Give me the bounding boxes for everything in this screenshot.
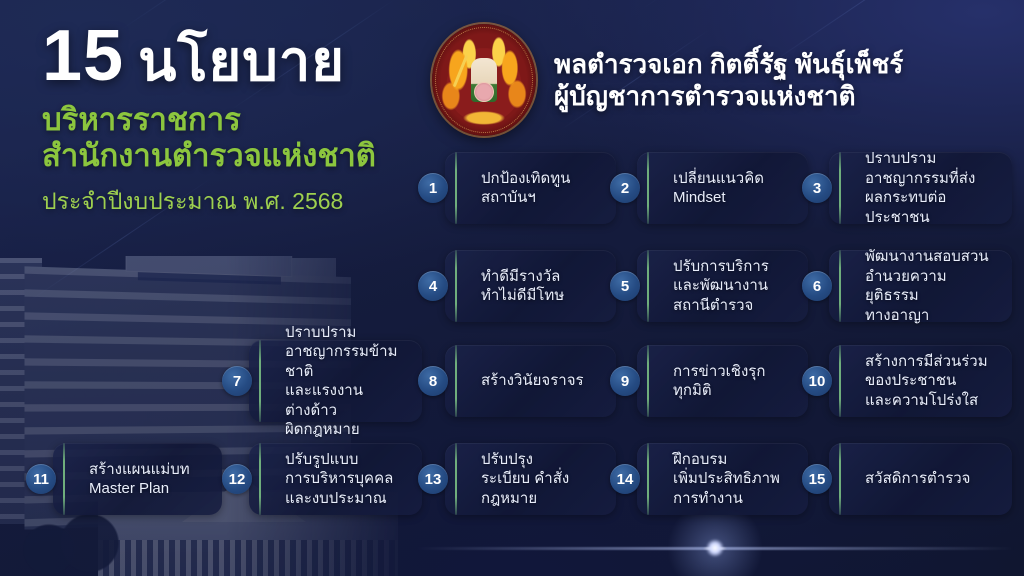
policy-accent-line — [455, 345, 457, 417]
policy-card[interactable]: สร้างแผนแม่บท Master Plan — [53, 443, 222, 515]
policy-accent-line — [839, 250, 841, 322]
policy-accent-line — [839, 345, 841, 417]
policy-card[interactable]: การข่าวเชิงรุก ทุกมิติ — [637, 345, 808, 417]
policy-label: ปรับการบริการ และพัฒนางาน สถานีตำรวจ — [673, 257, 769, 316]
policy-label: สร้างแผนแม่บท Master Plan — [89, 460, 190, 499]
policy-number-badge: 2 — [610, 173, 640, 203]
policy-label: สร้างวินัยจราจร — [481, 371, 584, 391]
policy-number-badge: 3 — [802, 173, 832, 203]
policy-item-8[interactable]: 8 สร้างวินัยจราจร — [418, 345, 616, 417]
policy-number-badge: 1 — [418, 173, 448, 203]
policy-item-2[interactable]: 2 เปลี่ยนแนวคิด Mindset — [610, 152, 808, 224]
policy-label: ปราบปราม อาชญากรรมที่ส่ง ผลกระทบต่อประชา… — [865, 149, 998, 227]
policy-accent-line — [647, 250, 649, 322]
policy-item-6[interactable]: 6 พัฒนางานสอบสวน อำนวยความยุติธรรม ทางอา… — [802, 250, 1012, 322]
policy-accent-line — [647, 345, 649, 417]
policy-card[interactable]: ฝึกอบรม เพิ่มประสิทธิภาพ การทำงาน — [637, 443, 808, 515]
policy-number-badge: 4 — [418, 271, 448, 301]
policy-card[interactable]: สร้างวินัยจราจร — [445, 345, 616, 417]
policy-number-badge: 11 — [26, 464, 56, 494]
policy-card[interactable]: ปราบปราม อาชญากรรมข้ามชาติ และแรงงานต่าง… — [249, 340, 422, 422]
policy-label: สวัสดิการตำรวจ — [865, 469, 970, 489]
policy-number-badge: 14 — [610, 464, 640, 494]
policy-accent-line — [259, 340, 261, 422]
policy-card[interactable]: ทำดีมีรางวัล ทำไม่ดีมีโทษ — [445, 250, 616, 322]
policy-number-badge: 9 — [610, 366, 640, 396]
policy-number-badge: 15 — [802, 464, 832, 494]
policy-number-badge: 8 — [418, 366, 448, 396]
policy-label: พัฒนางานสอบสวน อำนวยความยุติธรรม ทางอาญา — [865, 247, 998, 325]
policy-number-badge: 5 — [610, 271, 640, 301]
policy-number-badge: 12 — [222, 464, 252, 494]
policy-label: ฝึกอบรม เพิ่มประสิทธิภาพ การทำงาน — [673, 450, 780, 509]
policy-label: สร้างการมีส่วนร่วม ของประชาชน และความโปร… — [865, 352, 988, 411]
policy-label: ปรับปรุง ระเบียบ คำสั่ง กฎหมาย — [481, 450, 569, 509]
policy-card[interactable]: เปลี่ยนแนวคิด Mindset — [637, 152, 808, 224]
policy-card[interactable]: ปรับการบริการ และพัฒนางาน สถานีตำรวจ — [637, 250, 808, 322]
policy-number-badge: 10 — [802, 366, 832, 396]
policy-label: ปรับรูปแบบ การบริหารบุคคล และงบประมาณ — [285, 450, 393, 509]
policy-card[interactable]: สวัสดิการตำรวจ — [829, 443, 1012, 515]
policy-accent-line — [455, 443, 457, 515]
policy-number-badge: 6 — [802, 271, 832, 301]
infographic-canvas: 15 นโยบาย บริหารราชการ สำนักงานตำรวจแห่ง… — [0, 0, 1024, 576]
policy-number-badge: 7 — [222, 366, 252, 396]
policy-card[interactable]: ปรับรูปแบบ การบริหารบุคคล และงบประมาณ — [249, 443, 422, 515]
policy-label: ทำดีมีรางวัล ทำไม่ดีมีโทษ — [481, 267, 564, 306]
policy-label: ปราบปราม อาชญากรรมข้ามชาติ และแรงงานต่าง… — [285, 323, 408, 440]
policy-item-3[interactable]: 3 ปราบปราม อาชญากรรมที่ส่ง ผลกระทบต่อประ… — [802, 152, 1012, 224]
policy-item-15[interactable]: 15 สวัสดิการตำรวจ — [802, 443, 1012, 515]
policy-accent-line — [839, 152, 841, 224]
policy-item-7[interactable]: 7 ปราบปราม อาชญากรรมข้ามชาติ และแรงงานต่… — [222, 340, 422, 422]
policy-number-badge: 13 — [418, 464, 448, 494]
policy-item-5[interactable]: 5 ปรับการบริการ และพัฒนางาน สถานีตำรวจ — [610, 250, 808, 322]
policy-item-1[interactable]: 1 ปกป้องเทิดทูน สถาบันฯ — [418, 152, 616, 224]
policy-card[interactable]: ปราบปราม อาชญากรรมที่ส่ง ผลกระทบต่อประชา… — [829, 152, 1012, 224]
policy-card[interactable]: ปรับปรุง ระเบียบ คำสั่ง กฎหมาย — [445, 443, 616, 515]
policy-item-11[interactable]: 11 สร้างแผนแม่บท Master Plan — [26, 443, 222, 515]
policy-accent-line — [455, 152, 457, 224]
policy-accent-line — [647, 443, 649, 515]
policy-card[interactable]: สร้างการมีส่วนร่วม ของประชาชน และความโปร… — [829, 345, 1012, 417]
policy-accent-line — [259, 443, 261, 515]
policy-card[interactable]: พัฒนางานสอบสวน อำนวยความยุติธรรม ทางอาญา — [829, 250, 1012, 322]
policy-accent-line — [647, 152, 649, 224]
policy-label: ปกป้องเทิดทูน สถาบันฯ — [481, 169, 570, 208]
policy-grid: 1 ปกป้องเทิดทูน สถาบันฯ 2 เปลี่ยนแนวคิด … — [0, 0, 1024, 576]
policy-item-4[interactable]: 4 ทำดีมีรางวัล ทำไม่ดีมีโทษ — [418, 250, 616, 322]
policy-accent-line — [839, 443, 841, 515]
policy-card[interactable]: ปกป้องเทิดทูน สถาบันฯ — [445, 152, 616, 224]
policy-accent-line — [455, 250, 457, 322]
policy-item-12[interactable]: 12 ปรับรูปแบบ การบริหารบุคคล และงบประมาณ — [222, 443, 422, 515]
policy-label: การข่าวเชิงรุก ทุกมิติ — [673, 362, 765, 401]
policy-accent-line — [63, 443, 65, 515]
policy-item-10[interactable]: 10 สร้างการมีส่วนร่วม ของประชาชน และความ… — [802, 345, 1012, 417]
policy-label: เปลี่ยนแนวคิด Mindset — [673, 169, 764, 208]
policy-item-13[interactable]: 13 ปรับปรุง ระเบียบ คำสั่ง กฎหมาย — [418, 443, 616, 515]
policy-item-9[interactable]: 9 การข่าวเชิงรุก ทุกมิติ — [610, 345, 808, 417]
policy-item-14[interactable]: 14 ฝึกอบรม เพิ่มประสิทธิภาพ การทำงาน — [610, 443, 808, 515]
